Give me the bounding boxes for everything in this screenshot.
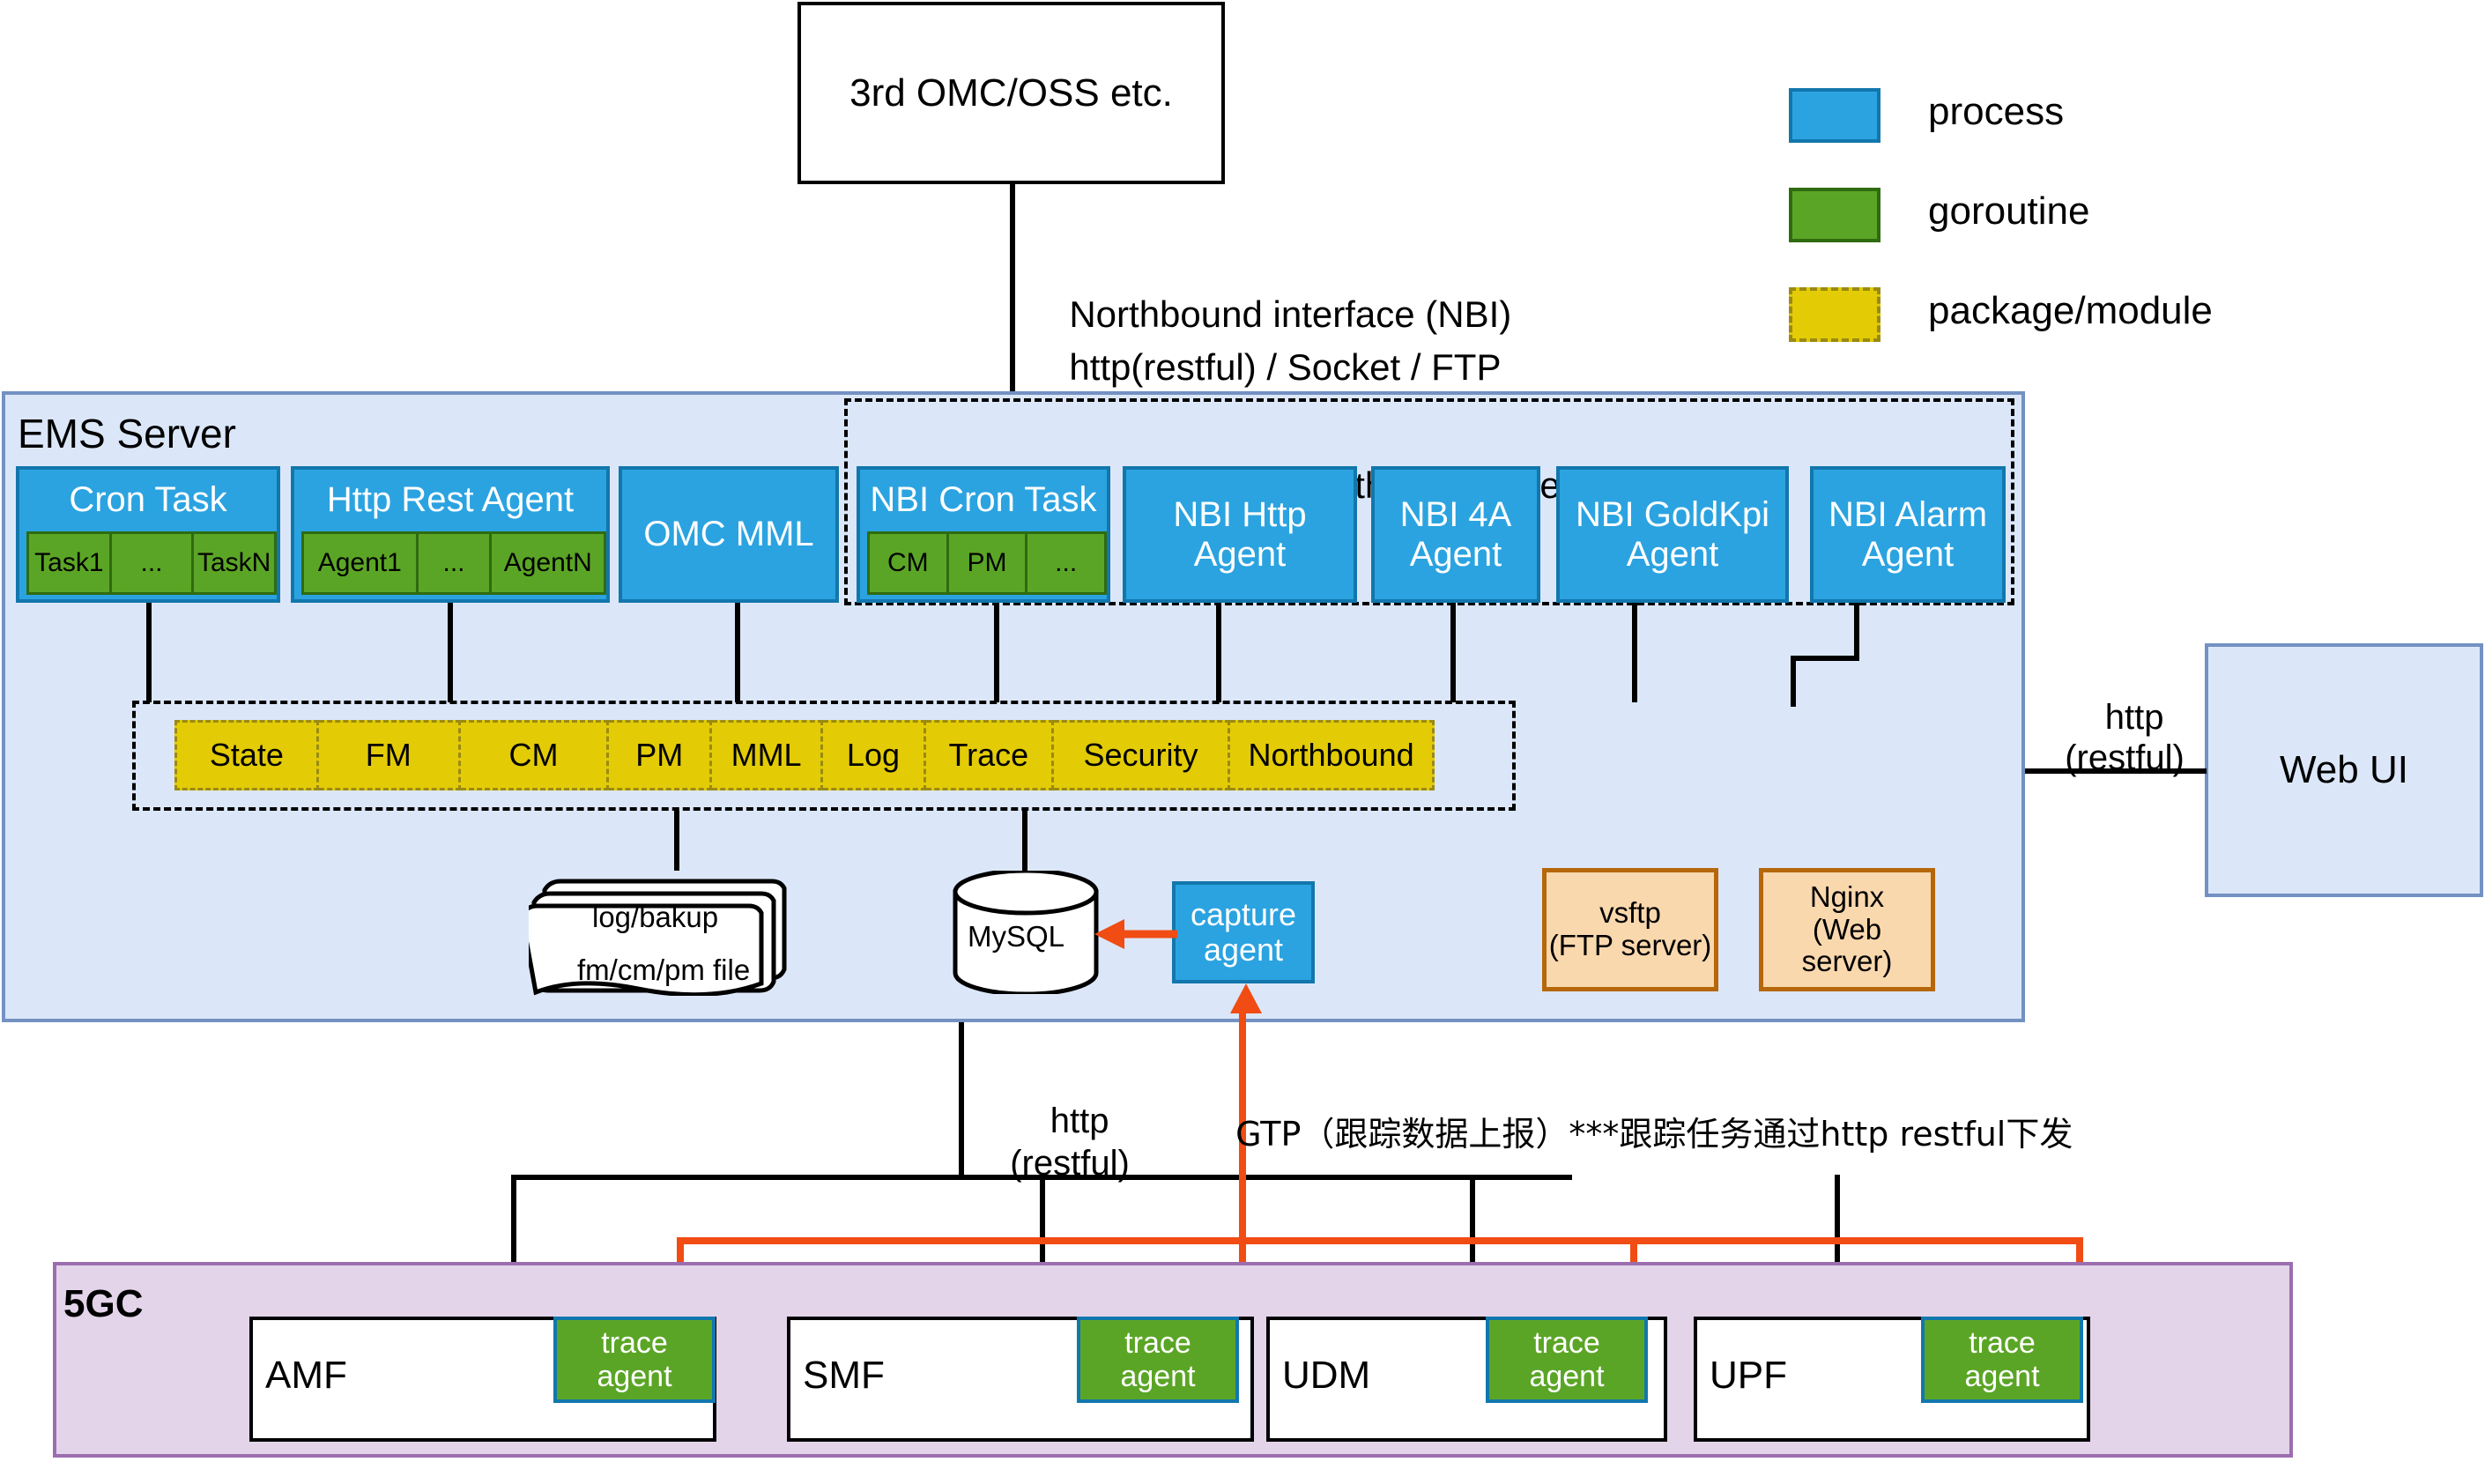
goroutine-swatch (1789, 188, 1880, 242)
process-cron-task-label: Cron Task (19, 475, 277, 524)
nf-udm-label: UDM (1282, 1354, 1370, 1398)
trace-bus-horizontal (677, 1237, 2083, 1244)
module-cm[interactable]: CM (461, 720, 610, 790)
trace-agent-udm[interactable]: traceagent (1486, 1317, 1648, 1403)
goroutine-chip[interactable]: ... (112, 531, 195, 595)
trace-agent-upf[interactable]: traceagent (1921, 1317, 2083, 1403)
module-northbound[interactable]: Northbound (1230, 720, 1435, 790)
process-nbi-http-agent[interactable]: NBI Http Agent (1123, 466, 1357, 603)
web-ui-box[interactable]: Web UI (2205, 643, 2483, 897)
http-restful-south-label: http(restful) (982, 1057, 1158, 1184)
ems-to-5gc-trunk (959, 1022, 964, 1176)
nbi-link-label-line2: http(restful) / Socket / FTP (1049, 304, 1501, 389)
process-omc-mml-label: OMC MML (643, 515, 813, 554)
third-party-oss-box: 3rd OMC/OSS etc. (797, 2, 1225, 184)
mysql-database-label: MySQL (968, 920, 1064, 953)
process-nbi-cron-task-label: NBI Cron Task (860, 475, 1107, 524)
trace-uplink-arrow (1220, 983, 1272, 1036)
file-store-label-line1: log/bakup (592, 901, 718, 934)
connector-cron-task (146, 603, 152, 702)
process-nbi-cron-task[interactable]: NBI Cron Task CM PM ... (857, 466, 1110, 603)
legend-label-package-module: package/module (1928, 289, 2213, 333)
module-fm[interactable]: FM (319, 720, 461, 790)
goroutine-chip[interactable]: Agent1 (301, 531, 419, 595)
module-pm[interactable]: PM (609, 720, 712, 790)
connector-nbi-goldkpi-agent (1632, 603, 1637, 702)
process-omc-mml[interactable]: OMC MML (619, 466, 839, 603)
gc5-title: 5GC (63, 1282, 143, 1326)
goroutine-chip[interactable]: ... (419, 531, 493, 595)
module-trace[interactable]: Trace (926, 720, 1054, 790)
process-swatch (1789, 88, 1880, 143)
process-nbi-alarm-agent-label: NBI Alarm Agent (1824, 495, 1992, 575)
connector-nbi-cron-task (994, 603, 999, 702)
gtp-note-label: GTP（跟踪数据上报）***跟踪任务通过http restful下发 (1214, 1068, 2073, 1155)
trace-agent-smf[interactable]: traceagent (1077, 1317, 1239, 1403)
oss-to-ems-connector (1010, 184, 1015, 392)
legend-item-process: process (1789, 88, 2406, 143)
nf-upf-label: UPF (1710, 1354, 1787, 1398)
ems-server-title: EMS Server (18, 410, 236, 457)
connector-nbi-alarm-agent-vert1 (1854, 603, 1859, 661)
connector-nbi-http-agent (1216, 603, 1221, 702)
legend-label-goroutine: goroutine (1928, 189, 2089, 234)
process-nbi-4a-agent[interactable]: NBI 4A Agent (1371, 466, 1540, 603)
module-mml[interactable]: MML (712, 720, 823, 790)
oss-box-label: 3rd OMC/OSS etc. (849, 71, 1173, 115)
connector-http-rest-agent (448, 603, 453, 702)
legend: process goroutine package/module (1789, 88, 2406, 335)
module-bar: State FM CM PM MML Log Trace Security No… (174, 720, 1435, 790)
process-nbi-http-agent-label: NBI Http Agent (1156, 495, 1324, 575)
connector-log-to-filestore (674, 811, 679, 871)
trace-agent-amf[interactable]: traceagent (553, 1317, 716, 1403)
process-capture-agent[interactable]: captureagent (1172, 881, 1315, 983)
module-log[interactable]: Log (823, 720, 926, 790)
goroutine-chip[interactable]: Task1 (26, 531, 112, 595)
process-http-rest-agent-label: Http Rest Agent (294, 475, 606, 524)
web-ui-label: Web UI (2280, 748, 2408, 791)
connector-omc-mml (735, 603, 740, 702)
goroutine-row: Agent1 ... AgentN (301, 531, 606, 595)
connector-nbi-4a-agent (1450, 603, 1456, 702)
module-security[interactable]: Security (1054, 720, 1230, 790)
goroutine-chip[interactable]: PM (949, 531, 1028, 595)
module-state[interactable]: State (174, 720, 319, 790)
file-store-label-line2: fm/cm/pm file (577, 953, 750, 987)
goroutine-row: CM PM ... (867, 531, 1107, 595)
goroutine-chip[interactable]: TaskN (194, 531, 277, 595)
goroutine-row: Task1 ... TaskN (26, 531, 277, 595)
capture-to-mysql-arrow (1089, 916, 1177, 952)
goroutine-chip[interactable]: AgentN (492, 531, 606, 595)
goroutine-chip[interactable]: CM (867, 531, 949, 595)
process-nbi-alarm-agent[interactable]: NBI Alarm Agent (1810, 466, 2006, 603)
nf-smf-label: SMF (803, 1354, 885, 1398)
capture-agent-label: captureagent (1191, 897, 1296, 968)
process-nbi-goldkpi-agent-label: NBI GoldKpi Agent (1571, 495, 1774, 575)
connector-trace-to-mysql (1022, 811, 1027, 871)
process-nbi-goldkpi-agent[interactable]: NBI GoldKpi Agent (1556, 466, 1789, 603)
process-nbi-4a-agent-label: NBI 4A Agent (1394, 495, 1517, 575)
nf-amf-label: AMF (265, 1354, 347, 1398)
legend-label-process: process (1928, 90, 2064, 134)
legend-item-package-module: package/module (1789, 287, 2406, 342)
webui-link-label: http(restful) (2043, 657, 2207, 778)
legend-item-goroutine: goroutine (1789, 188, 2406, 242)
third-party-vsftp[interactable]: vsftp(FTP server) (1542, 868, 1718, 991)
connector-nbi-alarm-agent-vert2 (1791, 656, 1796, 707)
connector-nbi-alarm-agent-horiz (1791, 656, 1859, 661)
process-http-rest-agent[interactable]: Http Rest Agent Agent1 ... AgentN (291, 466, 610, 603)
goroutine-chip[interactable]: ... (1027, 531, 1107, 595)
process-cron-task[interactable]: Cron Task Task1 ... TaskN (16, 466, 280, 603)
package-module-swatch (1789, 287, 1880, 342)
third-party-nginx[interactable]: Nginx(Web server) (1759, 868, 1935, 991)
